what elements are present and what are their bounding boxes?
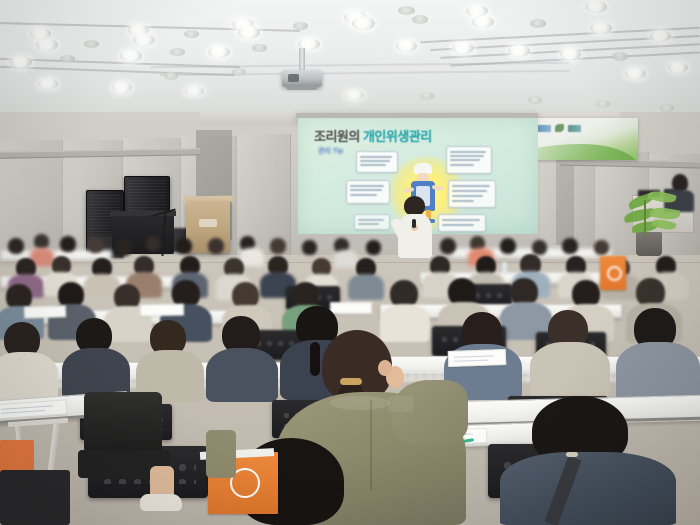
slide-subtitle: 관리 Tip (318, 146, 343, 156)
foreground-person-sleeve (392, 380, 468, 444)
downlight (112, 82, 132, 93)
necklace (566, 452, 578, 457)
slide-callout (346, 180, 390, 204)
projector-mount (299, 48, 305, 71)
downlight (590, 22, 612, 34)
audience-head (440, 238, 456, 254)
audience-torso (240, 248, 264, 266)
mesh-chair-back (84, 392, 162, 454)
shirt-seam (370, 400, 372, 490)
downlight-off (530, 19, 546, 28)
handheld-microphone (412, 219, 416, 228)
audience-torso (0, 352, 58, 402)
logo-mark-icon (537, 125, 551, 132)
handout-paper (448, 349, 507, 367)
downlight-off (612, 52, 628, 61)
shirt-pocket-flap (388, 396, 414, 412)
downlight (38, 78, 58, 89)
person-leg (206, 430, 236, 478)
handout-paper (140, 304, 184, 317)
downlight (133, 34, 155, 46)
downlight-off (293, 22, 308, 30)
foreground-person-ear (378, 360, 392, 376)
downlight (650, 30, 671, 42)
bag-logo-icon (607, 266, 622, 281)
slide-callout (446, 146, 492, 174)
downlight-off (170, 48, 185, 56)
downlight (10, 56, 32, 68)
audience-head (270, 238, 286, 254)
downlight (120, 50, 142, 62)
shirt-collar (330, 396, 390, 410)
audience-torso (206, 348, 278, 402)
logo-mark-icon (555, 124, 564, 132)
plant-pot (636, 232, 662, 256)
audience-head (208, 238, 224, 254)
audience-head (146, 236, 161, 251)
downlight-off (660, 104, 674, 112)
downlight (668, 62, 688, 73)
audience-head (34, 234, 49, 249)
presenter-head (404, 196, 425, 216)
plant-stem (644, 200, 646, 236)
audience-head (562, 238, 578, 254)
slide-title-part1: 조리원의 (314, 129, 360, 144)
audience-torso (530, 342, 610, 400)
hair-tie (340, 378, 362, 385)
downlight-off (398, 6, 415, 15)
audience-torso (348, 274, 384, 300)
slide-callout (448, 180, 496, 208)
foreground-person-top (500, 452, 676, 525)
downlight-off (232, 68, 246, 76)
downlight (36, 39, 58, 51)
audience-head (60, 236, 76, 252)
downlight-off (420, 92, 434, 100)
braid (310, 342, 320, 376)
handout-paper (24, 305, 66, 318)
slide-callout (356, 151, 398, 173)
audience-head (366, 240, 381, 255)
downlight (396, 40, 417, 52)
lecture-hall-photo: 육 2 조리원의 개인위생관리 관리 Tip (0, 0, 700, 525)
downlight-off (84, 40, 99, 48)
downlight (560, 48, 581, 60)
downlight (208, 46, 230, 58)
lectern-emblem-icon (199, 219, 217, 227)
logo-mark-icon (568, 125, 581, 132)
audience-head (116, 240, 132, 256)
handout-paper (330, 302, 372, 314)
audience-torso (334, 250, 358, 268)
audience-head (500, 238, 516, 254)
downlight-off (60, 55, 75, 63)
downlight (472, 16, 494, 28)
projector-base (286, 86, 318, 90)
downlight (625, 68, 646, 79)
downlight-off (412, 15, 428, 24)
audience-head (594, 240, 609, 255)
audience-torso (380, 304, 430, 342)
shopping-bag (600, 256, 626, 290)
slide-title-part2: 개인위생관리 (363, 129, 432, 144)
downlight (585, 1, 607, 13)
downlight-off (252, 44, 267, 52)
audience-torso (616, 342, 700, 402)
slide-callout (354, 214, 390, 230)
downlight-off (528, 96, 542, 104)
audience-head (88, 238, 103, 253)
downlight (352, 17, 375, 30)
audience-head (302, 240, 317, 255)
downlight (508, 45, 530, 57)
downlight (345, 90, 364, 100)
downlight (185, 86, 204, 96)
audience-head (8, 238, 24, 254)
slide-title: 조리원의 개인위생관리 (314, 126, 432, 145)
audience-head (176, 238, 192, 254)
audience-head (532, 240, 547, 255)
downlight-off (596, 100, 610, 108)
chair-back (0, 470, 70, 525)
downlight-off (164, 72, 178, 80)
downlight-off (184, 30, 199, 38)
projector-lens (288, 74, 299, 82)
sneaker (140, 494, 182, 511)
downlight (238, 26, 260, 39)
downlight (452, 42, 474, 54)
water-bottle (502, 262, 507, 275)
slide-callout (438, 214, 486, 232)
